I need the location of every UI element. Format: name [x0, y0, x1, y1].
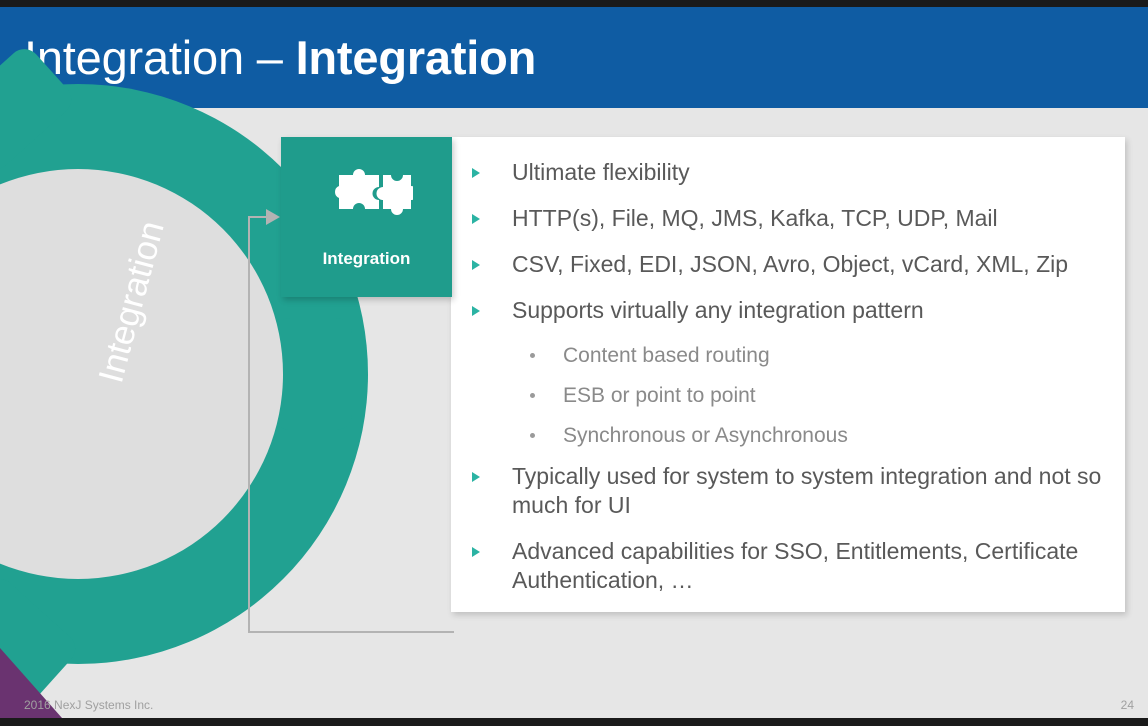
bullet-text: Synchronous or Asynchronous [563, 422, 848, 449]
bullet-item: ESB or point to point [472, 382, 1132, 409]
connector-arrow-icon [266, 209, 280, 225]
bullet-triangle-icon [472, 547, 480, 557]
bullet-triangle-icon [472, 260, 480, 270]
integration-icon-card[interactable]: Integration [281, 137, 452, 297]
connector-line-bottom [248, 631, 454, 633]
integration-icon-card-label: Integration [281, 249, 452, 269]
bullet-text: Supports virtually any integration patte… [512, 296, 924, 325]
bullet-text: ESB or point to point [563, 382, 756, 409]
bullet-triangle-icon [472, 306, 480, 316]
page-title-strong: Integration [296, 31, 537, 84]
footer-copyright: 2016 NexJ Systems Inc. [24, 698, 153, 712]
frame-bottom-bar [0, 718, 1148, 726]
bullet-list: Ultimate flexibilityHTTP(s), File, MQ, J… [472, 158, 1132, 612]
bullet-item: Ultimate flexibility [472, 158, 1132, 187]
bullet-text: Typically used for system to system inte… [512, 462, 1102, 520]
bullet-text: Advanced capabilities for SSO, Entitleme… [512, 537, 1102, 595]
page-title-normal: Integration – [24, 31, 296, 84]
ring-tab-right [274, 318, 352, 430]
bullet-item: Synchronous or Asynchronous [472, 422, 1132, 449]
bullet-dot-icon [530, 433, 535, 438]
bullet-item: HTTP(s), File, MQ, JMS, Kafka, TCP, UDP,… [472, 204, 1132, 233]
bullet-item: Typically used for system to system inte… [472, 462, 1132, 520]
puzzle-pieces-icon [281, 157, 452, 234]
bullet-text: Ultimate flexibility [512, 158, 690, 187]
slide: Integration – Integration Integration [0, 0, 1148, 726]
bullet-item: Supports virtually any integration patte… [472, 296, 1132, 325]
bullet-text: HTTP(s), File, MQ, JMS, Kafka, TCP, UDP,… [512, 204, 998, 233]
bullet-item: CSV, Fixed, EDI, JSON, Avro, Object, vCa… [472, 250, 1132, 279]
frame-top-bar [0, 0, 1148, 7]
bullet-dot-icon [530, 393, 535, 398]
bullet-dot-icon [530, 353, 535, 358]
bullet-item: Content based routing [472, 342, 1132, 369]
connector-line-vertical [248, 217, 250, 633]
bullet-triangle-icon [472, 214, 480, 224]
footer-page-number: 24 [1121, 698, 1134, 712]
bullet-triangle-icon [472, 168, 480, 178]
bullet-text: CSV, Fixed, EDI, JSON, Avro, Object, vCa… [512, 250, 1068, 279]
bullet-item: Advanced capabilities for SSO, Entitleme… [472, 537, 1132, 595]
bullet-text: Content based routing [563, 342, 770, 369]
page-title: Integration – Integration [24, 29, 536, 87]
bullet-triangle-icon [472, 472, 480, 482]
